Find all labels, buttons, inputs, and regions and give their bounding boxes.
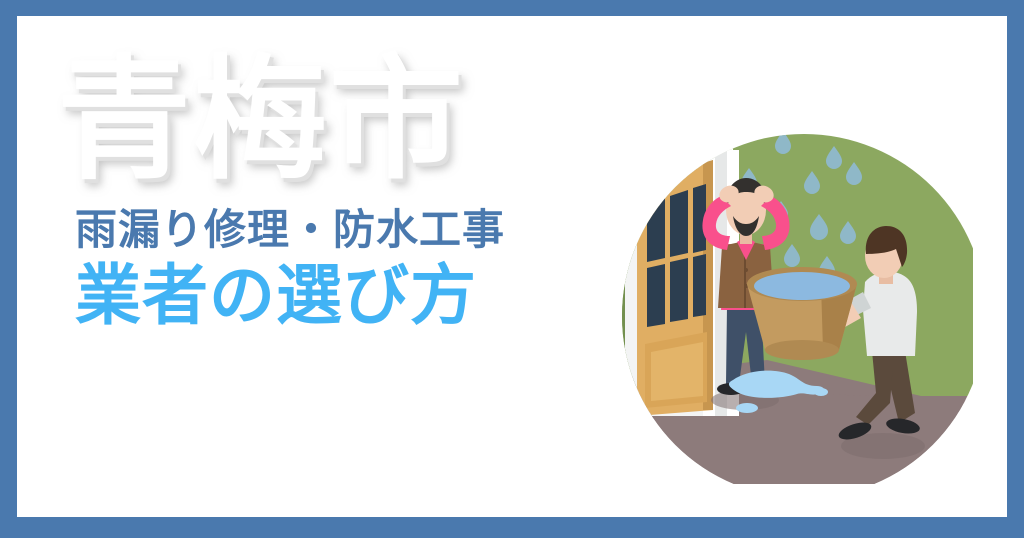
page-title: 青梅市	[57, 54, 617, 188]
headline-block: 青梅市 雨漏り修理・防水工事 業者の選び方	[57, 54, 617, 333]
leaking-roof-illustration	[607, 116, 973, 484]
banner-canvas: 青梅市 雨漏り修理・防水工事 業者の選び方	[17, 16, 1007, 517]
shirt-white	[863, 272, 917, 356]
service-subtitle: 雨漏り修理・防水工事	[75, 206, 617, 253]
scene-contents	[607, 116, 973, 484]
howto-subtitle: 業者の選び方	[75, 259, 617, 333]
banner-frame: 青梅市 雨漏り修理・防水工事 業者の選び方	[0, 0, 1024, 538]
bucket-water	[754, 272, 850, 300]
bucket-base	[765, 340, 839, 360]
